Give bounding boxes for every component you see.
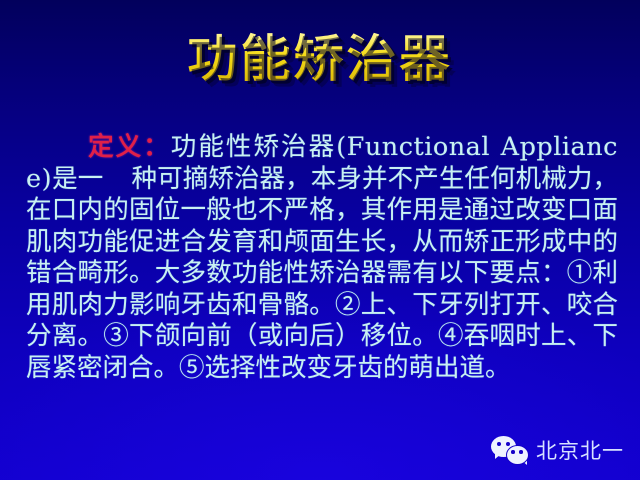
definition-body-text: 种可摘矫治器，本身并不产生任何机械力，在口内的固位一般也不严格，其作用是通过改变… (26, 164, 618, 383)
watermark-label: 北京北一 (536, 439, 624, 463)
wechat-icon (491, 436, 529, 466)
watermark: 北京北一 (491, 436, 624, 466)
page-title: 功能矫治器 (188, 30, 453, 88)
presentation-slide: 功能矫治器 定义：功能性矫治器(Functional Appliance)是一种… (0, 0, 640, 480)
definition-line2-start: 是一 (52, 164, 103, 194)
slide-title-block: 功能矫治器 (0, 30, 640, 88)
slide-body-block: 定义：功能性矫治器(Functional Appliance)是一种可摘矫治器，… (26, 132, 618, 384)
definition-paragraph: 定义：功能性矫治器(Functional Appliance)是一种可摘矫治器，… (26, 132, 618, 384)
definition-label: 定义： (86, 132, 171, 162)
definition-term-chinese: 功能性矫治器 (171, 132, 336, 162)
